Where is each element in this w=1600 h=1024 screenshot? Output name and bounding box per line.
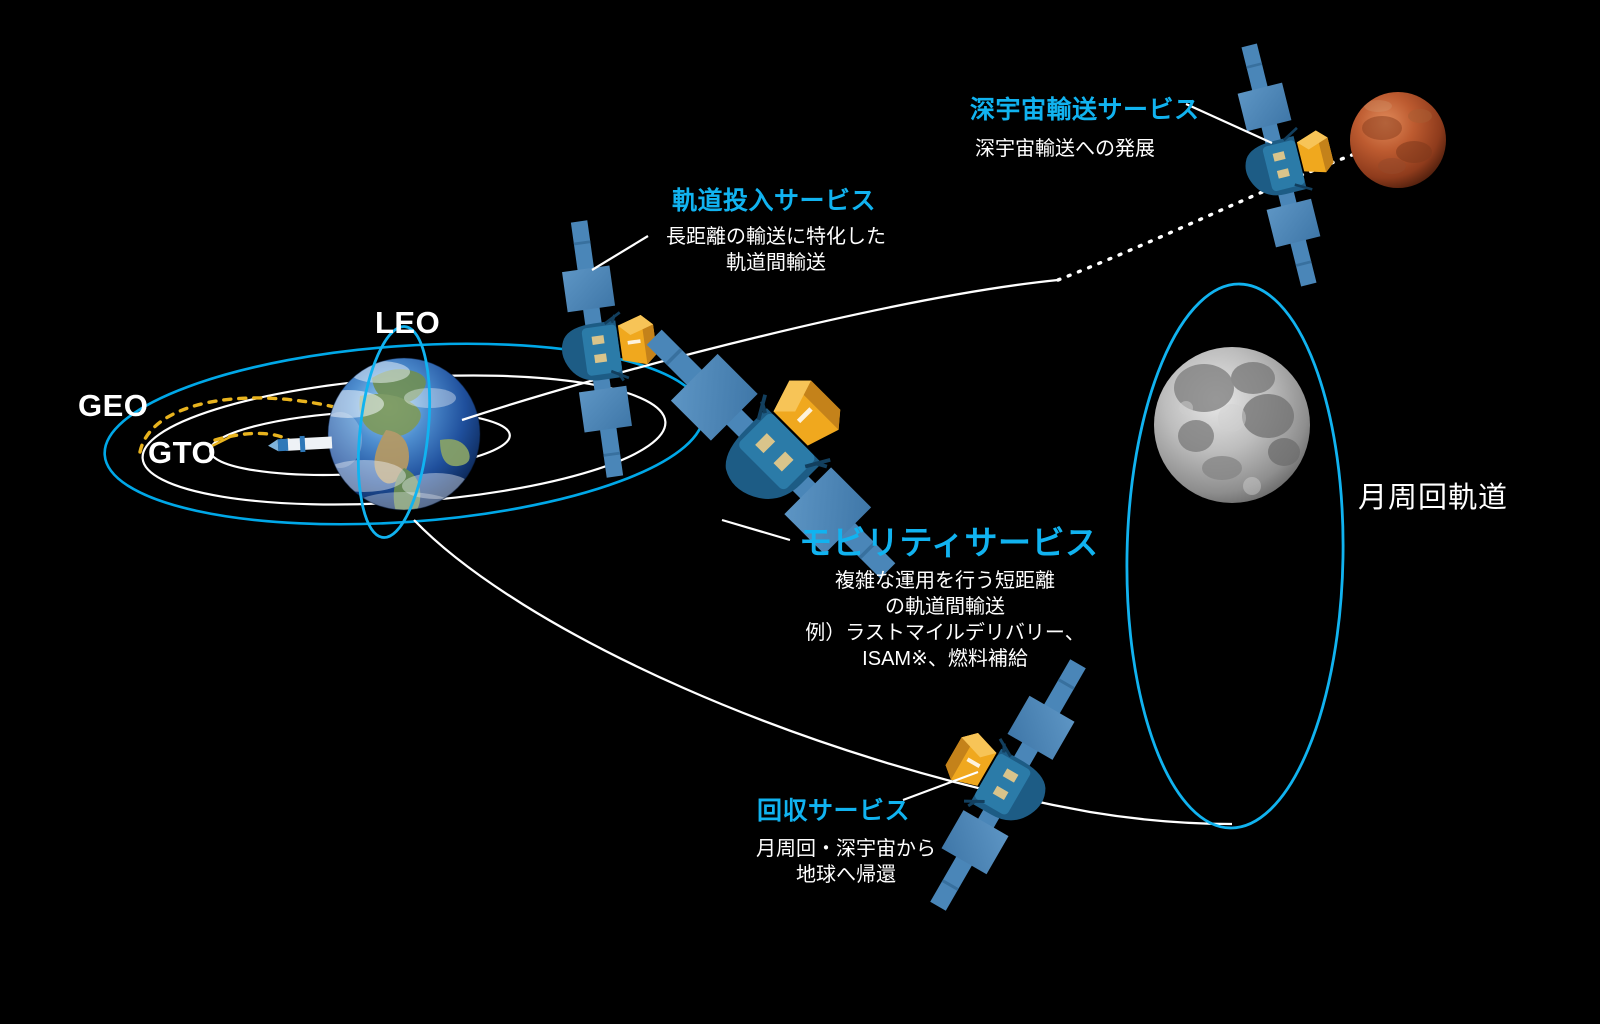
leader-line-orbit-injection [592, 236, 648, 270]
orbit-label-leo: LEO [375, 305, 440, 341]
earth-globe [312, 358, 480, 520]
service-subtitle-line: 深宇宙輸送への発展 [975, 136, 1155, 162]
orbit-label-geo: GEO [78, 388, 148, 424]
service-subtitle-line: 例）ラストマイルデリバリー、 [800, 620, 1090, 646]
service-subtitle-line: 長距離の輸送に特化した [651, 224, 901, 250]
service-subtitle-deep-space-transport: 深宇宙輸送への発展 [975, 136, 1155, 162]
service-subtitle-mobility: 複雑な運用を行う短距離 の軌道間輸送 例）ラストマイルデリバリー、 ISAM※、… [800, 568, 1090, 672]
sat-deep-space [1217, 32, 1361, 292]
orbit-label-gto: GTO [148, 435, 216, 471]
service-subtitle-line: 複雑な運用を行う短距離 [800, 568, 1090, 594]
orbit-label-lunar: 月周回軌道 [1358, 474, 1508, 516]
service-subtitle-line: ISAM※、燃料補給 [800, 646, 1090, 672]
translunar-lower-trajectory [414, 520, 1232, 824]
service-subtitle-line: 地球へ帰還 [736, 862, 956, 888]
service-subtitle-recovery: 月周回・深宇宙から 地球へ帰還 [736, 836, 956, 889]
service-title-mobility: モビリティサービス [799, 516, 1099, 564]
service-title-deep-space-transport: 深宇宙輸送サービス [970, 90, 1200, 126]
translunar-upper-trajectory [462, 280, 1058, 420]
service-title-recovery: 回収サービス [757, 791, 910, 827]
mars-globe [1350, 92, 1446, 188]
leader-line-mobility [722, 520, 790, 540]
service-subtitle-line: 月周回・深宇宙から [736, 836, 956, 862]
moon-globe [1154, 347, 1310, 503]
service-title-orbit-injection: 軌道投入サービス [672, 181, 876, 217]
service-subtitle-line: 軌道間輸送 [651, 250, 901, 276]
diagram-canvas: GEO GTO LEO 月周回軌道 深宇宙輸送サービス 深宇宙輸送への発展 軌道… [0, 0, 1600, 1024]
service-subtitle-orbit-injection: 長距離の輸送に特化した 軌道間輸送 [651, 224, 901, 277]
service-subtitle-line: の軌道間輸送 [800, 594, 1090, 620]
